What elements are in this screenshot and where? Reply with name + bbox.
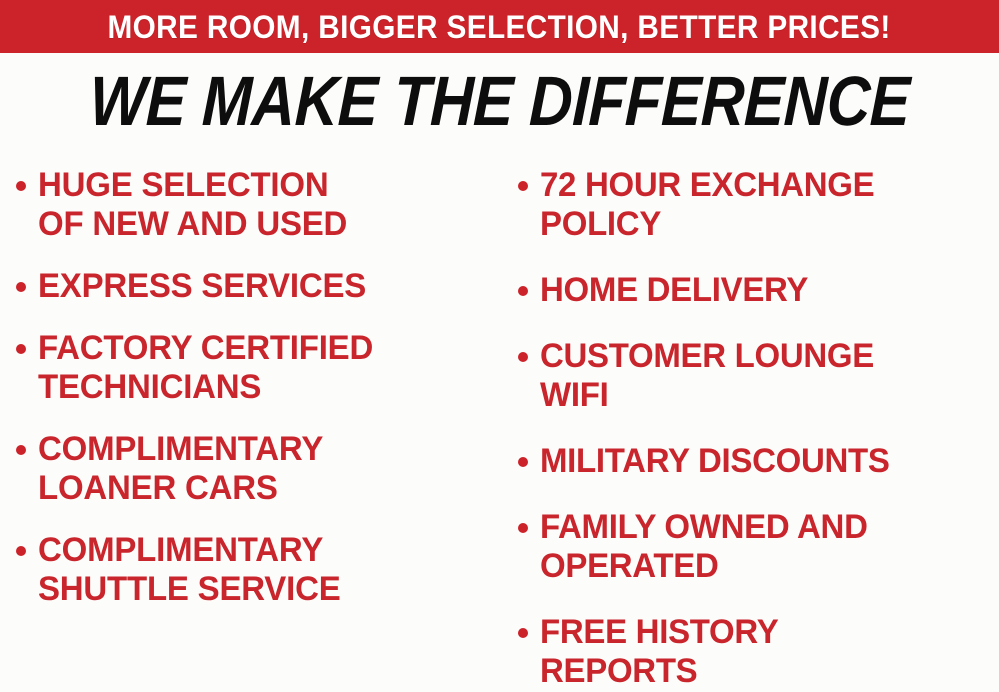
list-item: FREE HISTORY REPORTS (518, 613, 999, 691)
bullet-dot-icon (16, 282, 26, 292)
list-item-label: 72 HOUR EXCHANGE POLICY (540, 166, 874, 244)
top-banner: MORE ROOM, BIGGER SELECTION, BETTER PRIC… (0, 0, 999, 53)
bullet-dot-icon (16, 546, 26, 556)
main-headline: WE MAKE THE DIFFERENCE (88, 66, 910, 136)
list-item-label: FAMILY OWNED AND OPERATED (540, 508, 868, 586)
list-item: EXPRESS SERVICES (16, 267, 500, 306)
list-item-label: MILITARY DISCOUNTS (540, 442, 890, 481)
list-item: HUGE SELECTION OF NEW AND USED (16, 166, 500, 244)
bullet-dot-icon (16, 445, 26, 455)
list-item: HOME DELIVERY (518, 271, 999, 310)
list-item-label: FACTORY CERTIFIED TECHNICIANS (38, 329, 373, 407)
promotional-poster: MORE ROOM, BIGGER SELECTION, BETTER PRIC… (0, 0, 999, 692)
list-item-label: HUGE SELECTION OF NEW AND USED (38, 166, 347, 244)
benefits-column-right: 72 HOUR EXCHANGE POLICY HOME DELIVERY CU… (500, 158, 999, 692)
bullet-dot-icon (518, 457, 528, 467)
benefits-columns: HUGE SELECTION OF NEW AND USED EXPRESS S… (0, 158, 999, 692)
list-item: MILITARY DISCOUNTS (518, 442, 999, 481)
bullet-dot-icon (16, 344, 26, 354)
list-item-label: EXPRESS SERVICES (38, 267, 366, 306)
list-item: FACTORY CERTIFIED TECHNICIANS (16, 329, 500, 407)
bullet-dot-icon (16, 181, 26, 191)
benefits-column-left: HUGE SELECTION OF NEW AND USED EXPRESS S… (0, 158, 500, 632)
list-item: COMPLIMENTARY LOANER CARS (16, 430, 500, 508)
list-item-label: CUSTOMER LOUNGE WIFI (540, 337, 874, 415)
list-item: FAMILY OWNED AND OPERATED (518, 508, 999, 586)
bullet-dot-icon (518, 181, 528, 191)
banner-headline-text: MORE ROOM, BIGGER SELECTION, BETTER PRIC… (108, 11, 891, 43)
list-item-label: COMPLIMENTARY LOANER CARS (38, 430, 323, 508)
list-item-label: COMPLIMENTARY SHUTTLE SERVICE (38, 531, 341, 609)
headline-container: WE MAKE THE DIFFERENCE (0, 62, 999, 140)
list-item-label: HOME DELIVERY (540, 271, 808, 310)
list-item: 72 HOUR EXCHANGE POLICY (518, 166, 999, 244)
list-item: CUSTOMER LOUNGE WIFI (518, 337, 999, 415)
bullet-dot-icon (518, 628, 528, 638)
list-item: COMPLIMENTARY SHUTTLE SERVICE (16, 531, 500, 609)
bullet-dot-icon (518, 286, 528, 296)
bullet-dot-icon (518, 352, 528, 362)
bullet-dot-icon (518, 523, 528, 533)
list-item-label: FREE HISTORY REPORTS (540, 613, 778, 691)
